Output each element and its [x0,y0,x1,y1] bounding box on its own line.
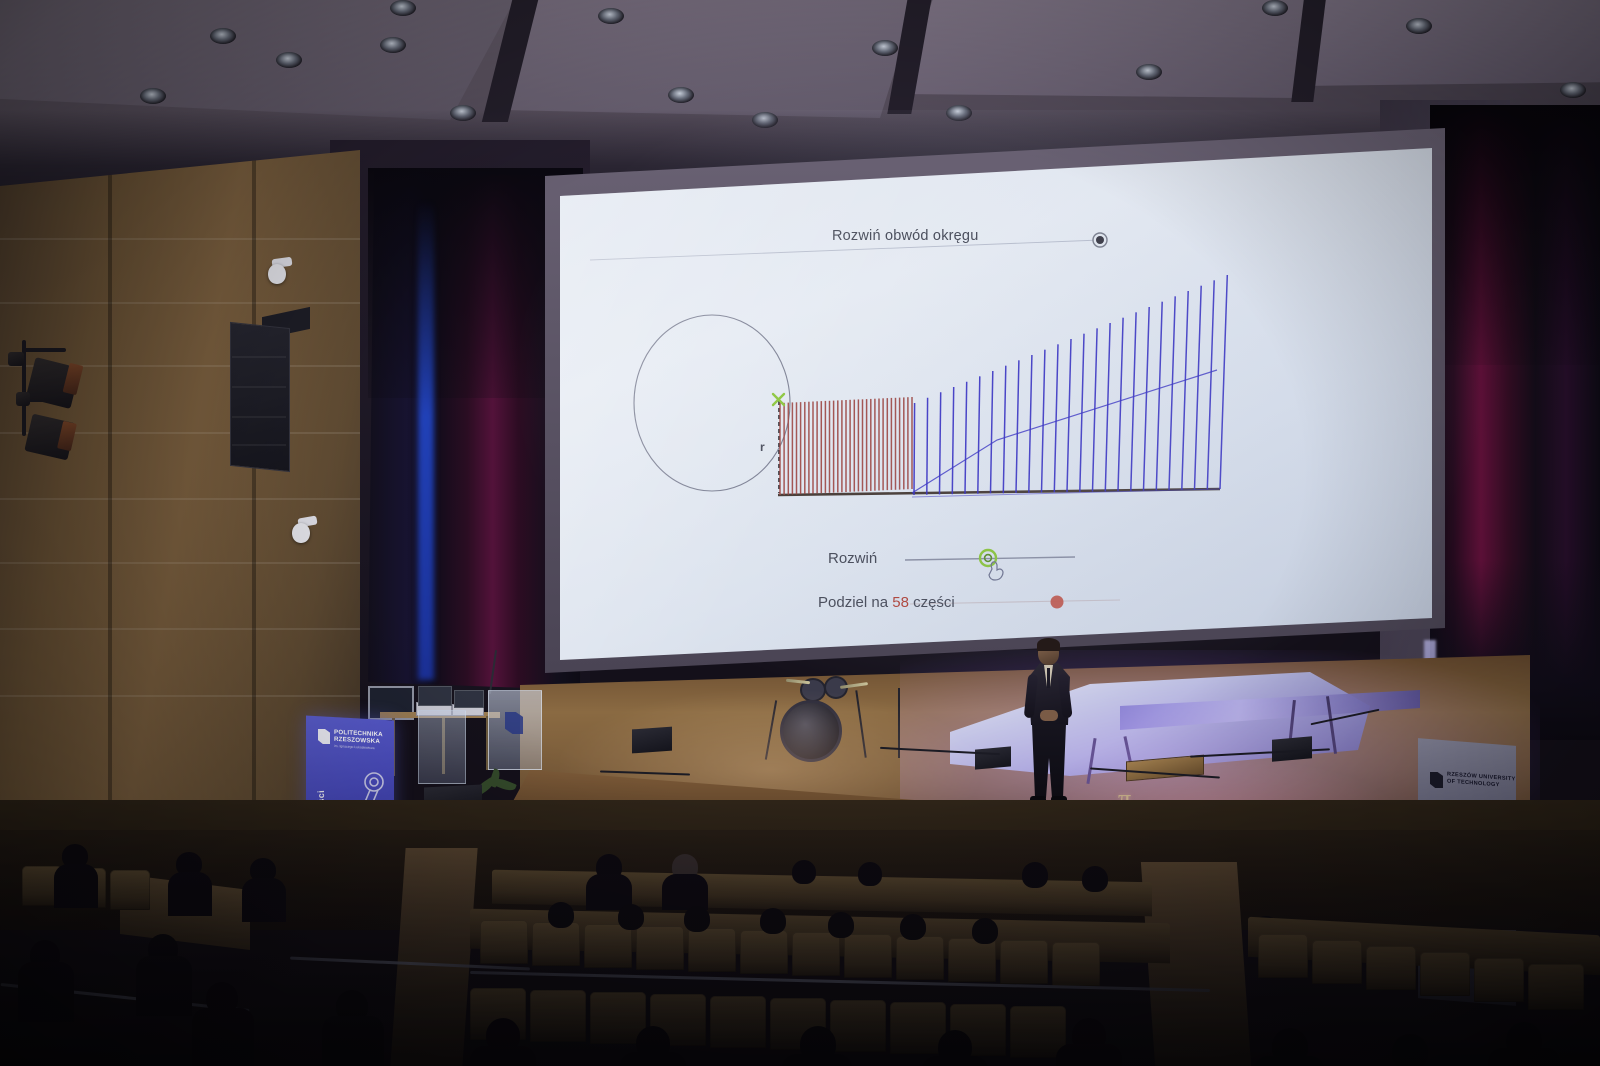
divide-label: Podziel na 58 części [818,594,955,611]
curtain-right-shadow [1430,105,1600,365]
audience-area [0,830,1600,1066]
blue-light-stripe [418,200,434,680]
ceiling-downlight [1560,82,1586,98]
ceiling-panel-2 [500,0,920,118]
ceiling-downlight [380,37,406,53]
divide-count: 58 [892,594,909,611]
stage-wedge-monitor [975,746,1011,769]
ceiling-downlight [598,8,624,24]
ceiling-downlight [390,0,416,16]
ceiling-panel-3 [900,0,1320,102]
radius-label: r [760,440,765,454]
presenter-tie [1047,668,1050,688]
projected-slide: Rozwiń obwód okręgu r Rozwiń Podziel na … [560,148,1432,660]
unroll-slider-label: Rozwiń [828,550,877,567]
bass-drum [780,700,842,762]
slide-heading: Rozwiń obwód okręgu [832,228,978,244]
divide-suffix: części [913,594,955,611]
auditorium-photo: Rozwiń obwód okręgu r Rozwiń Podziel na … [0,0,1600,1066]
slide-geometry [560,148,1432,660]
ceiling-panel-1 [0,0,520,120]
line-array-speaker [230,322,290,472]
lighting-rig [8,340,100,490]
divide-prefix: Podziel na [818,594,888,611]
ptz-camera-icon [268,264,286,284]
presenter-hands [1040,710,1058,721]
stage-wedge-monitor [632,727,672,754]
ceiling-downlight [1136,64,1162,80]
ceiling-downlight [140,88,166,104]
laptop-screen [454,690,484,708]
secondary-lectern [418,710,466,784]
ptz-camera-icon [292,523,310,543]
presenter-hair [1037,638,1060,651]
ceiling-downlight [872,40,898,56]
ceiling-downlight [1406,18,1432,34]
ceiling-panel-4 [1300,0,1600,90]
projection-screen: Rozwiń obwód okręgu r Rozwiń Podziel na … [560,148,1432,660]
presenter [1020,640,1078,810]
audience-darkening [0,830,1600,1066]
ceiling-downlight [276,52,302,68]
ceiling-downlight [668,87,694,103]
ceiling-downlight [1262,0,1288,16]
laptop-screen [418,686,452,706]
ceiling-downlight [210,28,236,44]
presenter-legs [1032,724,1066,798]
